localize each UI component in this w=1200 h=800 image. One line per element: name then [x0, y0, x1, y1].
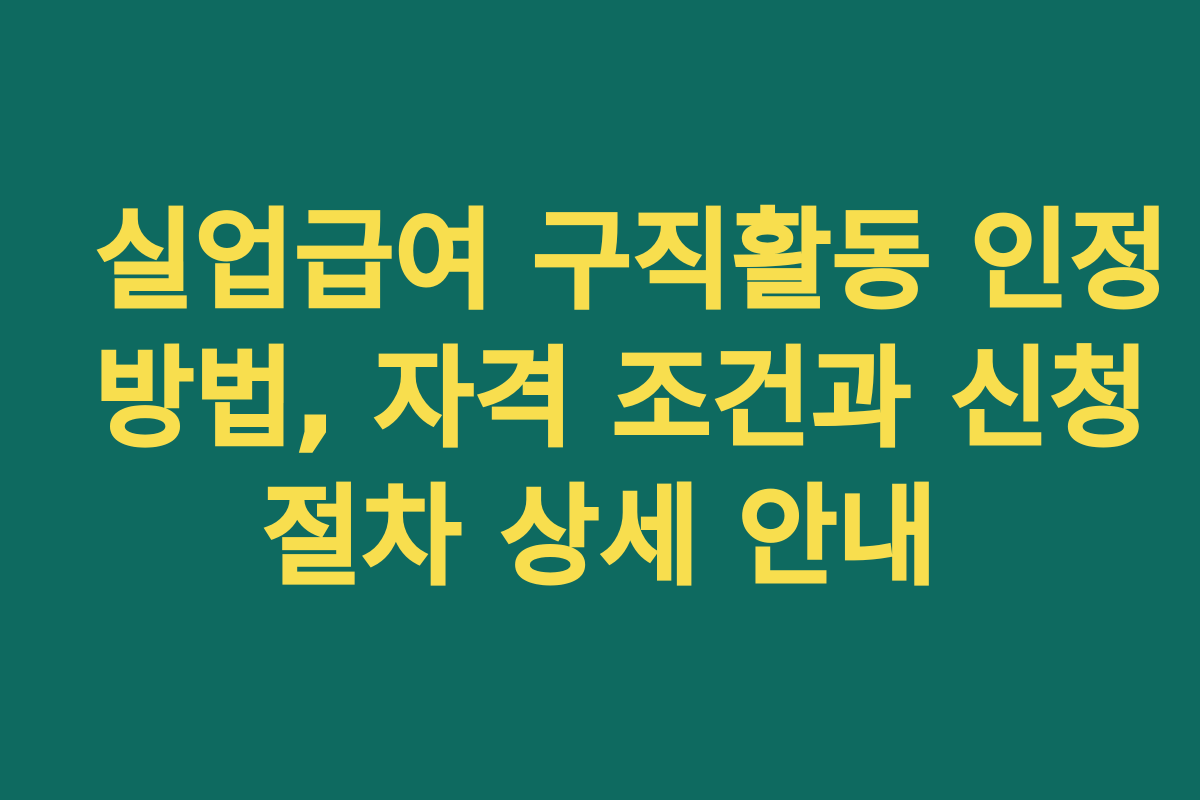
headline-text: 실업급여 구직활동 인정 방법, 자격 조건과 신청 절차 상세 안내: [95, 193, 1105, 606]
thumbnail-banner: 실업급여 구직활동 인정 방법, 자격 조건과 신청 절차 상세 안내: [0, 0, 1200, 800]
headline-line-1: 실업급여 구직활동 인정: [95, 193, 1105, 331]
headline-line-3: 절차 상세 안내: [95, 469, 1105, 607]
headline-line-2: 방법, 자격 조건과 신청: [95, 331, 1105, 469]
